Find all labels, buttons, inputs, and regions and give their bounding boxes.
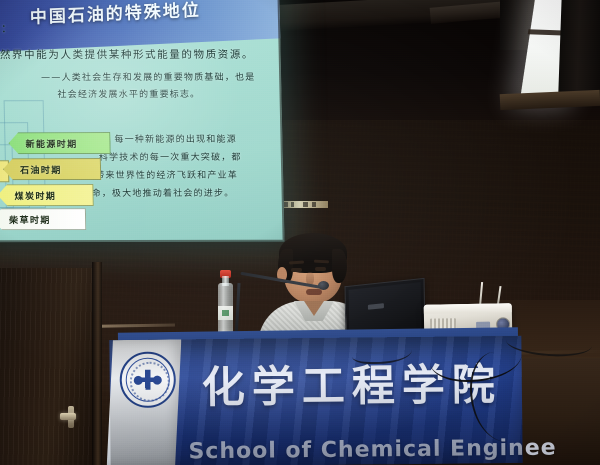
banner-seal-panel xyxy=(105,339,182,465)
slide-text-line-1: 于能源： xyxy=(0,22,14,37)
seal-dot-right xyxy=(153,376,162,385)
curtain-right xyxy=(558,0,600,101)
slide-arrow-new-energy: 新能源时期 xyxy=(8,132,110,154)
door-frame xyxy=(92,262,102,465)
door-handle[interactable] xyxy=(60,413,76,420)
presentation-slide: 中国石油的特殊地位 于能源： 源： 自然界中能为人类提供某种形式能量的物质资源。… xyxy=(0,0,285,242)
slide-text-right-1: 每一种新能源的出现和能源 xyxy=(114,134,237,146)
slide-text-right-2: 科学技术的每一次重大突破，都 xyxy=(99,152,242,164)
slide-text-line-4: 社会经济发展水平的重要标志。 xyxy=(57,89,200,101)
seal-dot-left xyxy=(134,376,143,385)
slide-arrow-petroleum: 石油时期 xyxy=(3,158,101,180)
microphone-icon xyxy=(318,281,329,290)
slide-arrow-firewood: 柴草时期 xyxy=(0,208,86,230)
door-grain xyxy=(0,268,96,465)
slide-text-line-2: 源： 自然界中能为人类提供某种形式能量的物质资源。 xyxy=(0,48,254,63)
lecture-hall-photo: 中国石油的特殊地位 于能源： 源： 自然界中能为人类提供某种形式能量的物质资源。… xyxy=(0,0,600,465)
bottle-label xyxy=(218,306,233,320)
speaker-eye-left xyxy=(291,268,302,272)
slide-text-line-3: ——人类社会生存和发展的重要物质基础，也是 xyxy=(41,72,255,85)
university-seal-icon xyxy=(119,351,176,408)
slide-text-right-4: 命，极大地推动着社会的进步。 xyxy=(91,188,234,200)
speaker-mouth xyxy=(306,289,322,295)
lit-wall-strip xyxy=(281,201,328,208)
projection-screen: 中国石油的特殊地位 于能源： 源： 自然界中能为人类提供某种形式能量的物质资源。… xyxy=(0,0,285,242)
speaker-eye-right xyxy=(315,267,326,271)
seal-emblem xyxy=(135,370,161,390)
projector-top xyxy=(424,303,512,314)
slide-text-right-3: 带来世界性的经济飞跃和产业革 xyxy=(95,170,238,182)
speaker-hair-right xyxy=(332,249,347,283)
slide-arrow-coal: 煤炭时期 xyxy=(0,184,94,206)
door[interactable] xyxy=(0,268,100,465)
seal-ring xyxy=(130,362,170,402)
